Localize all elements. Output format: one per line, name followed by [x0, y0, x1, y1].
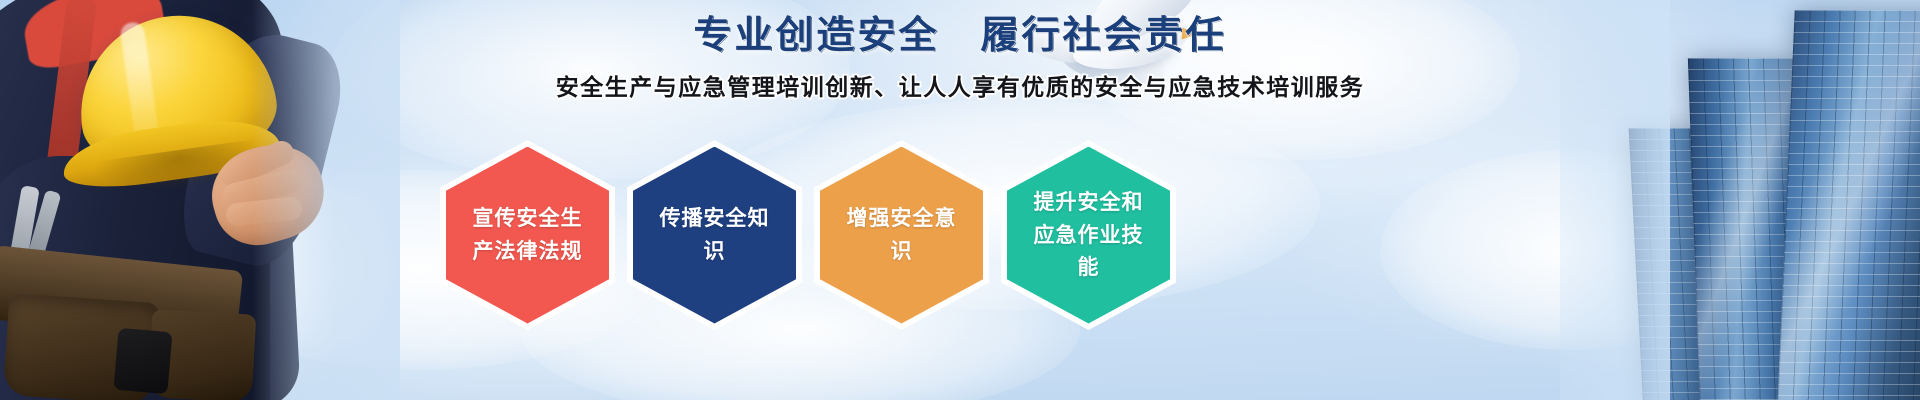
- badge-label: 提升安全和应急作业技能: [1027, 186, 1150, 284]
- badge-label: 增强安全意识: [840, 202, 963, 267]
- tool-item: [113, 328, 172, 394]
- badge-label: 宣传安全生产法律法规: [466, 202, 589, 267]
- banner-subheadline: 安全生产与应急管理培训创新、让人人享有优质的安全与应急技术培训服务: [0, 68, 1920, 102]
- badge-safety-awareness[interactable]: 增强安全意识: [814, 140, 989, 330]
- badge-fill: 提升安全和应急作业技能: [1007, 147, 1170, 324]
- badge-label: 传播安全知识: [653, 202, 776, 267]
- badge-law-regulations[interactable]: 宣传安全生产法律法规: [440, 140, 615, 330]
- atmospheric-haze: [1560, 0, 1670, 400]
- badge-fill: 传播安全知识: [633, 147, 796, 324]
- worker-edge-fade: [252, 0, 400, 400]
- worker-image: [0, 0, 400, 400]
- badge-safety-knowledge[interactable]: 传播安全知识: [627, 140, 802, 330]
- badge-emergency-skills[interactable]: 提升安全和应急作业技能: [1001, 140, 1176, 330]
- badge-fill: 宣传安全生产法律法规: [446, 147, 609, 324]
- badge-row: 宣传安全生产法律法规 传播安全知识 增强安全意识 提升安全和应急作业技能: [440, 140, 1176, 330]
- badge-fill: 增强安全意识: [820, 147, 983, 324]
- banner-headline: 专业创造安全 履行社会责任: [0, 4, 1920, 59]
- safety-training-banner: 专业创造安全 履行社会责任 安全生产与应急管理培训创新、让人人享有优质的安全与应…: [0, 0, 1920, 400]
- skyscraper-image: [1560, 0, 1920, 400]
